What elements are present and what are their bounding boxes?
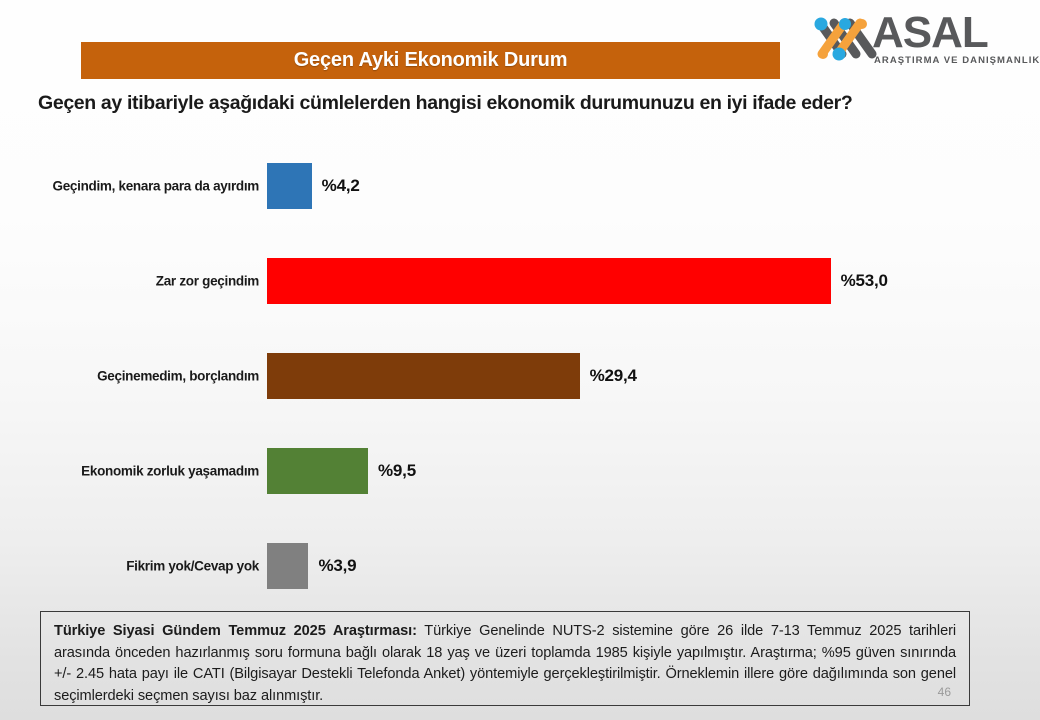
bar-value-label: %29,4	[590, 366, 637, 386]
chart-row: Zar zor geçindim%53,0	[0, 235, 1040, 327]
methodology-note-lead: Türkiye Siyasi Gündem Temmuz 2025 Araştı…	[54, 623, 417, 639]
logo-tagline: ARAŞTIRMA VE DANIŞMANLIK	[874, 55, 1040, 66]
category-label: Fikrim yok/Cevap yok	[126, 559, 259, 574]
slide-canvas: ASAL ARAŞTIRMA VE DANIŞMANLIK Geçen Ayki…	[0, 0, 1040, 720]
bar-chart: Geçindim, kenara para da ayırdım%4,2Zar …	[0, 140, 1040, 600]
title-banner: Geçen Ayki Ekonomik Durum	[81, 42, 780, 79]
bar-segment	[267, 543, 308, 589]
chart-row: Geçinemedim, borçlandım%29,4	[0, 330, 1040, 422]
category-label: Ekonomik zorluk yaşamadım	[81, 464, 259, 479]
page-number: 46	[938, 685, 951, 699]
bar-value-label: %3,9	[318, 556, 356, 576]
bar-value-label: %9,5	[378, 461, 416, 481]
category-label: Geçindim, kenara para da ayırdım	[53, 179, 260, 194]
page-title: Geçen Ayki Ekonomik Durum	[294, 49, 568, 72]
chart-row: Geçindim, kenara para da ayırdım%4,2	[0, 140, 1040, 232]
chart-row: Fikrim yok/Cevap yok%3,9	[0, 520, 1040, 612]
bar-value-label: %53,0	[841, 271, 888, 291]
bar-value-label: %4,2	[322, 176, 360, 196]
bar-segment	[267, 163, 312, 209]
chart-row: Ekonomik zorluk yaşamadım%9,5	[0, 425, 1040, 517]
category-label: Geçinemedim, borçlandım	[97, 369, 259, 384]
asal-logo-mark-icon	[812, 12, 878, 66]
category-label: Zar zor geçindim	[156, 274, 259, 289]
bar-segment	[267, 448, 368, 494]
survey-question: Geçen ay itibariyle aşağıdaki cümlelerde…	[38, 92, 998, 115]
bar-segment	[267, 353, 580, 399]
bar-segment	[267, 258, 831, 304]
asal-logo: ASAL ARAŞTIRMA VE DANIŞMANLIK	[812, 8, 1012, 70]
logo-wordmark: ASAL	[872, 10, 988, 56]
methodology-note: Türkiye Siyasi Gündem Temmuz 2025 Araştı…	[40, 611, 970, 706]
